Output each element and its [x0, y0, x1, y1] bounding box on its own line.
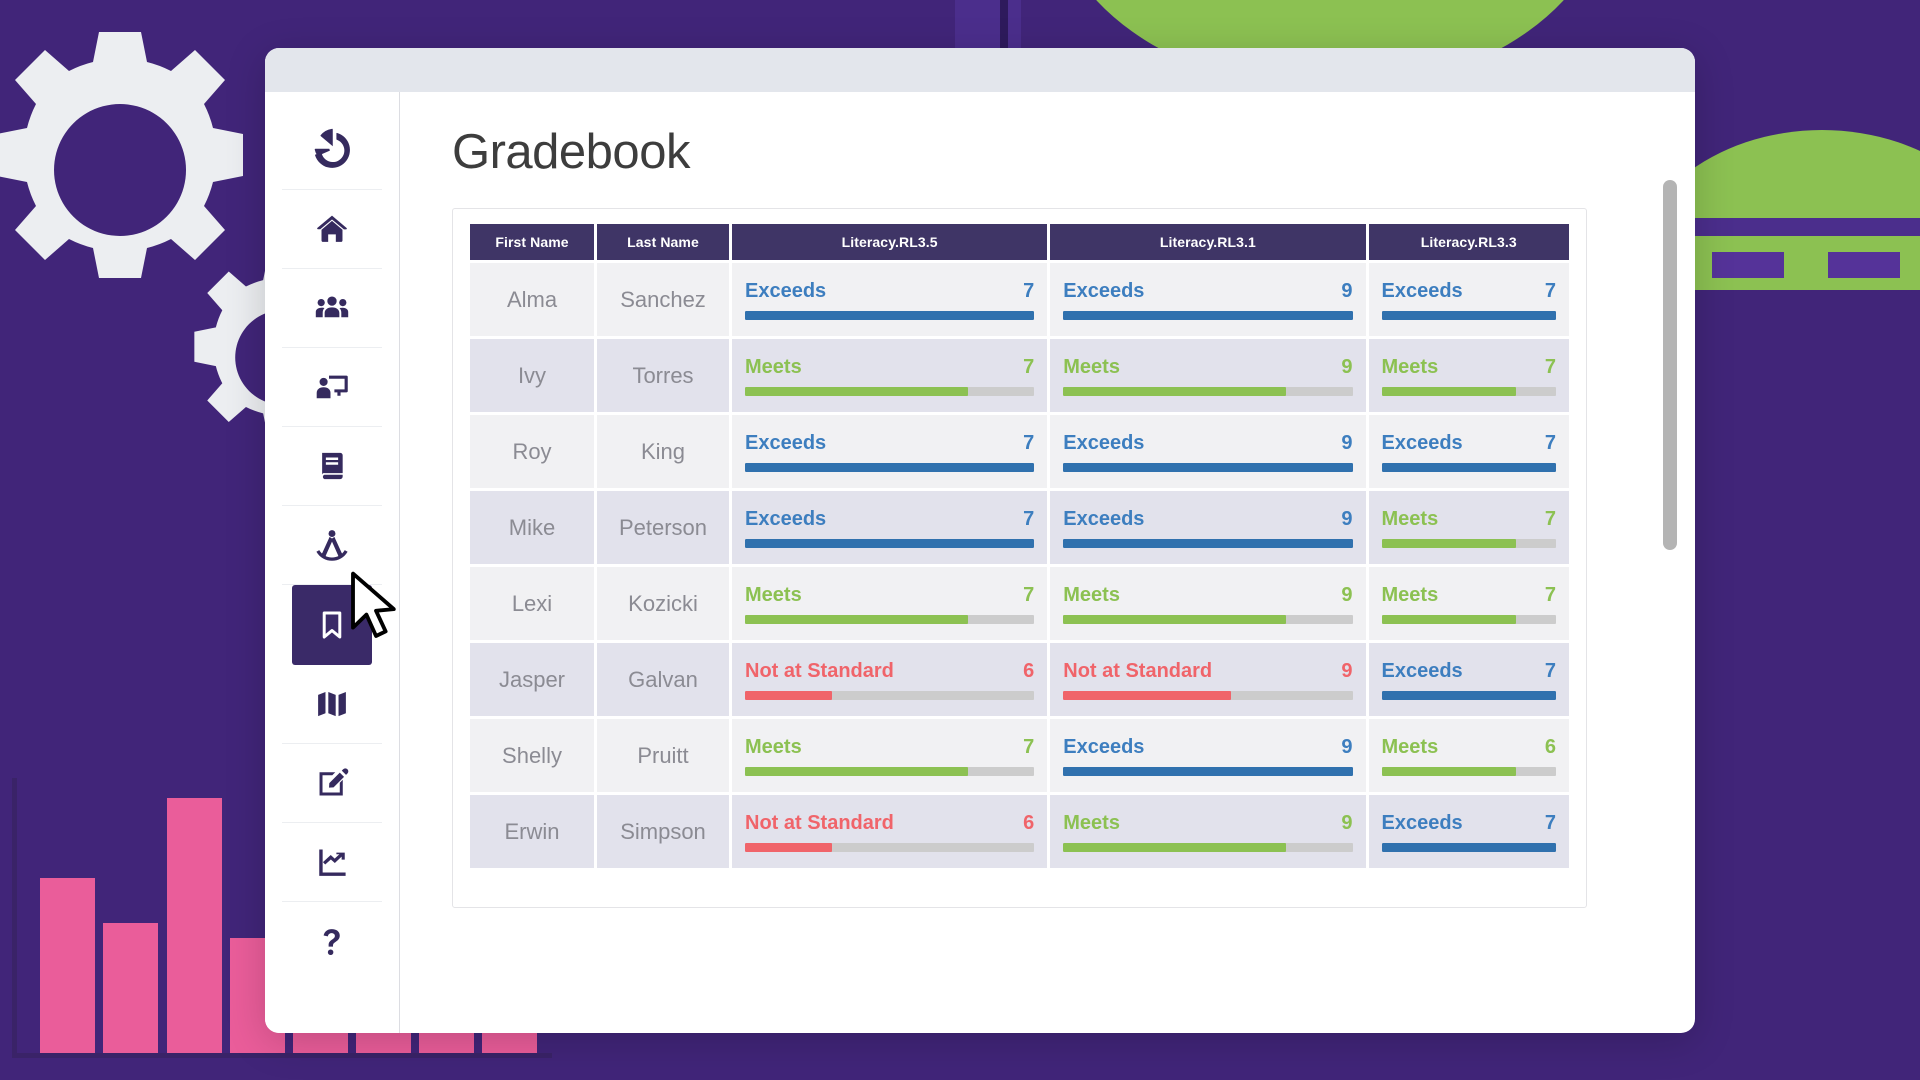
gradebook-table: First Name Last Name Literacy.RL3.5 Lite…	[467, 221, 1572, 871]
progress-fill	[745, 691, 832, 700]
table-row[interactable]: ErwinSimpsonNot at Standard6Meets9Exceed…	[470, 795, 1569, 868]
sidebar-item-help[interactable]	[282, 902, 382, 981]
progress-track	[1382, 843, 1557, 852]
cell-standard-score[interactable]: Meets9	[1050, 339, 1365, 412]
cell-standard-score[interactable]: Exceeds9	[1050, 263, 1365, 336]
progress-fill	[1382, 539, 1516, 548]
cell-standard-score[interactable]: Meets7	[732, 567, 1047, 640]
progress-track	[1063, 311, 1352, 320]
progress-track	[745, 843, 1034, 852]
progress-fill	[745, 463, 1034, 472]
sidebar-item-logo[interactable]	[282, 106, 382, 190]
progress-fill	[745, 615, 968, 624]
cell-first-name: Erwin	[470, 795, 594, 868]
table-row[interactable]: LexiKozickiMeets7Meets9Meets7	[470, 567, 1569, 640]
score-value: 9	[1341, 736, 1352, 759]
score-value: 7	[1023, 508, 1034, 531]
proficiency-label: Exceeds	[745, 508, 826, 531]
cell-standard-score[interactable]: Meets6	[1369, 719, 1570, 792]
progress-track	[1063, 691, 1352, 700]
cell-standard-score[interactable]: Exceeds7	[732, 491, 1047, 564]
progress-fill	[1063, 311, 1352, 320]
decor-bar	[40, 878, 95, 1053]
score-value: 6	[1545, 736, 1556, 759]
cell-standard-score[interactable]: Exceeds7	[1369, 263, 1570, 336]
progress-track	[1382, 387, 1557, 396]
table-header-row: First Name Last Name Literacy.RL3.5 Lite…	[470, 224, 1569, 260]
score-value: 7	[1545, 356, 1556, 379]
score-value: 7	[1023, 736, 1034, 759]
proficiency-label: Meets	[1063, 356, 1120, 379]
main-content: Gradebook First Name Last Name Literacy.…	[400, 92, 1695, 1033]
cell-last-name: Kozicki	[597, 567, 729, 640]
window-shape	[1712, 252, 1784, 278]
cell-first-name: Mike	[470, 491, 594, 564]
table-row[interactable]: MikePetersonExceeds7Exceeds9Meets7	[470, 491, 1569, 564]
score-value: 7	[1545, 812, 1556, 835]
progress-fill	[1382, 311, 1557, 320]
score-value: 9	[1341, 660, 1352, 683]
gradebook-card: First Name Last Name Literacy.RL3.5 Lite…	[452, 208, 1587, 908]
cell-last-name: Sanchez	[597, 263, 729, 336]
score-value: 7	[1023, 584, 1034, 607]
cell-standard-score[interactable]: Exceeds9	[1050, 719, 1365, 792]
cell-first-name: Ivy	[470, 339, 594, 412]
cell-standard-score[interactable]: Not at Standard9	[1050, 643, 1365, 716]
table-row[interactable]: IvyTorresMeets7Meets9Meets7	[470, 339, 1569, 412]
chart-line-icon	[315, 845, 349, 879]
cell-standard-score[interactable]: Exceeds7	[1369, 795, 1570, 868]
users-group-icon	[314, 290, 350, 326]
proficiency-label: Exceeds	[1382, 432, 1463, 455]
cell-standard-score[interactable]: Meets7	[1369, 491, 1570, 564]
progress-fill	[1382, 843, 1557, 852]
scrollbar-track[interactable]	[1661, 92, 1679, 1033]
decor-bar	[103, 923, 158, 1053]
progress-fill	[745, 767, 968, 776]
score-value: 9	[1341, 280, 1352, 303]
score-value: 9	[1341, 508, 1352, 531]
score-value: 7	[1023, 432, 1034, 455]
progress-track	[1063, 387, 1352, 396]
progress-track	[745, 691, 1034, 700]
cell-last-name: Peterson	[597, 491, 729, 564]
table-row[interactable]: ShellyPruittMeets7Exceeds9Meets6	[470, 719, 1569, 792]
cell-standard-score[interactable]: Meets7	[732, 339, 1047, 412]
scrollbar-thumb[interactable]	[1663, 180, 1677, 550]
proficiency-label: Not at Standard	[745, 660, 894, 683]
progress-track	[745, 387, 1034, 396]
progress-track	[1063, 539, 1352, 548]
cell-last-name: Galvan	[597, 643, 729, 716]
proficiency-label: Meets	[1382, 584, 1439, 607]
proficiency-label: Meets	[1382, 508, 1439, 531]
progress-fill	[1382, 615, 1516, 624]
window-shape	[1828, 252, 1900, 278]
progress-fill	[1063, 767, 1352, 776]
chart-x-axis	[12, 1053, 552, 1058]
progress-track	[1382, 463, 1557, 472]
progress-track	[1382, 311, 1557, 320]
progress-track	[1063, 843, 1352, 852]
cell-first-name: Alma	[470, 263, 594, 336]
roof-shape	[955, 0, 1021, 48]
sidebar-item-standards[interactable]	[282, 506, 382, 585]
score-value: 9	[1341, 432, 1352, 455]
browser-window: Gradebook First Name Last Name Literacy.…	[265, 48, 1695, 1033]
progress-track	[745, 463, 1034, 472]
proficiency-label: Meets	[1063, 584, 1120, 607]
score-value: 6	[1023, 660, 1034, 683]
progress-fill	[1382, 463, 1557, 472]
proficiency-label: Exceeds	[1382, 660, 1463, 683]
proficiency-label: Meets	[1382, 356, 1439, 379]
score-value: 7	[1545, 584, 1556, 607]
score-value: 7	[1545, 432, 1556, 455]
sidebar-item-gradebook[interactable]	[292, 585, 372, 665]
column-header-rl33[interactable]: Literacy.RL3.3	[1369, 224, 1570, 260]
chart-y-axis	[12, 778, 17, 1058]
proficiency-label: Exceeds	[1382, 280, 1463, 303]
question-mark-icon	[317, 925, 347, 959]
progress-fill	[1382, 691, 1557, 700]
cell-standard-score[interactable]: Meets9	[1050, 795, 1365, 868]
proficiency-label: Exceeds	[1063, 508, 1144, 531]
cell-standard-score[interactable]: Meets7	[732, 719, 1047, 792]
proficiency-label: Exceeds	[745, 280, 826, 303]
cell-last-name: Torres	[597, 339, 729, 412]
score-value: 7	[1545, 660, 1556, 683]
cell-standard-score[interactable]: Exceeds7	[732, 415, 1047, 488]
score-value: 9	[1341, 584, 1352, 607]
score-value: 7	[1023, 280, 1034, 303]
cell-standard-score[interactable]: Exceeds9	[1050, 491, 1365, 564]
donut-chart-logo-icon	[309, 125, 355, 171]
edit-square-icon	[315, 766, 349, 800]
sidebar-item-assignments[interactable]	[282, 744, 382, 823]
cell-standard-score[interactable]: Exceeds7	[732, 263, 1047, 336]
score-value: 7	[1545, 280, 1556, 303]
table-row[interactable]: RoyKingExceeds7Exceeds9Exceeds7	[470, 415, 1569, 488]
sidebar-item-classroom[interactable]	[282, 348, 382, 427]
cell-standard-score[interactable]: Exceeds7	[1369, 643, 1570, 716]
cell-last-name: King	[597, 415, 729, 488]
score-value: 6	[1023, 812, 1034, 835]
progress-fill	[745, 387, 968, 396]
column-header-rl35[interactable]: Literacy.RL3.5	[732, 224, 1047, 260]
proficiency-label: Meets	[745, 736, 802, 759]
progress-track	[1382, 767, 1557, 776]
proficiency-label: Exceeds	[1063, 280, 1144, 303]
progress-fill	[745, 539, 1034, 548]
sidebar-nav	[265, 92, 400, 1033]
book-icon	[316, 450, 348, 482]
cell-first-name: Jasper	[470, 643, 594, 716]
table-row[interactable]: JasperGalvanNot at Standard6Not at Stand…	[470, 643, 1569, 716]
progress-fill	[1063, 463, 1352, 472]
cell-standard-score[interactable]: Not at Standard6	[732, 643, 1047, 716]
score-value: 9	[1341, 356, 1352, 379]
sidebar-item-curriculum[interactable]	[282, 427, 382, 506]
cell-standard-score[interactable]: Exceeds7	[1369, 415, 1570, 488]
sidebar-item-roadmap[interactable]	[282, 665, 382, 744]
progress-fill	[745, 311, 1034, 320]
table-body: AlmaSanchezExceeds7Exceeds9Exceeds7IvyTo…	[470, 263, 1569, 868]
proficiency-label: Meets	[745, 584, 802, 607]
proficiency-label: Exceeds	[1063, 736, 1144, 759]
decor-bar	[167, 798, 222, 1053]
proficiency-label: Meets	[1063, 812, 1120, 835]
proficiency-label: Meets	[1382, 736, 1439, 759]
progress-fill	[1382, 767, 1516, 776]
table-header: First Name Last Name Literacy.RL3.5 Lite…	[470, 224, 1569, 260]
progress-fill	[1063, 539, 1352, 548]
column-header-last-name[interactable]: Last Name	[597, 224, 729, 260]
column-header-first-name[interactable]: First Name	[470, 224, 594, 260]
map-icon	[315, 687, 349, 721]
cell-last-name: Simpson	[597, 795, 729, 868]
progress-track	[1382, 615, 1557, 624]
progress-fill	[1063, 387, 1286, 396]
score-value: 9	[1341, 812, 1352, 835]
cell-standard-score[interactable]: Not at Standard6	[732, 795, 1047, 868]
table-row[interactable]: AlmaSanchezExceeds7Exceeds9Exceeds7	[470, 263, 1569, 336]
sidebar-item-reports[interactable]	[282, 823, 382, 902]
proficiency-label: Exceeds	[1382, 812, 1463, 835]
progress-fill	[1063, 691, 1231, 700]
proficiency-label: Not at Standard	[745, 812, 894, 835]
proficiency-label: Exceeds	[745, 432, 826, 455]
progress-fill	[1063, 615, 1286, 624]
proficiency-label: Exceeds	[1063, 432, 1144, 455]
home-icon	[315, 212, 349, 246]
proficiency-label: Not at Standard	[1063, 660, 1212, 683]
progress-track	[1382, 691, 1557, 700]
page-title: Gradebook	[452, 124, 1655, 180]
cell-last-name: Pruitt	[597, 719, 729, 792]
progress-fill	[1063, 843, 1286, 852]
progress-track	[745, 767, 1034, 776]
progress-track	[1063, 615, 1352, 624]
progress-fill	[1382, 387, 1516, 396]
sidebar-item-home[interactable]	[282, 190, 382, 269]
progress-fill	[745, 843, 832, 852]
score-value: 7	[1545, 508, 1556, 531]
progress-track	[745, 539, 1034, 548]
proficiency-label: Meets	[745, 356, 802, 379]
cell-first-name: Roy	[470, 415, 594, 488]
presentation-icon	[314, 369, 350, 405]
progress-track	[1063, 463, 1352, 472]
cell-standard-score[interactable]: Meets7	[1369, 339, 1570, 412]
cell-standard-score[interactable]: Exceeds9	[1050, 415, 1365, 488]
window-titlebar[interactable]	[265, 48, 1695, 92]
cell-first-name: Lexi	[470, 567, 594, 640]
score-value: 7	[1023, 356, 1034, 379]
compass-icon	[314, 527, 350, 563]
sidebar-item-students[interactable]	[282, 269, 382, 348]
progress-track	[1382, 539, 1557, 548]
progress-track	[745, 615, 1034, 624]
cell-standard-score[interactable]: Meets9	[1050, 567, 1365, 640]
progress-track	[1063, 767, 1352, 776]
progress-track	[745, 311, 1034, 320]
bookmark-icon	[315, 608, 349, 642]
cell-first-name: Shelly	[470, 719, 594, 792]
wall-band	[1690, 218, 1920, 236]
column-header-rl31[interactable]: Literacy.RL3.1	[1050, 224, 1365, 260]
cell-standard-score[interactable]: Meets7	[1369, 567, 1570, 640]
